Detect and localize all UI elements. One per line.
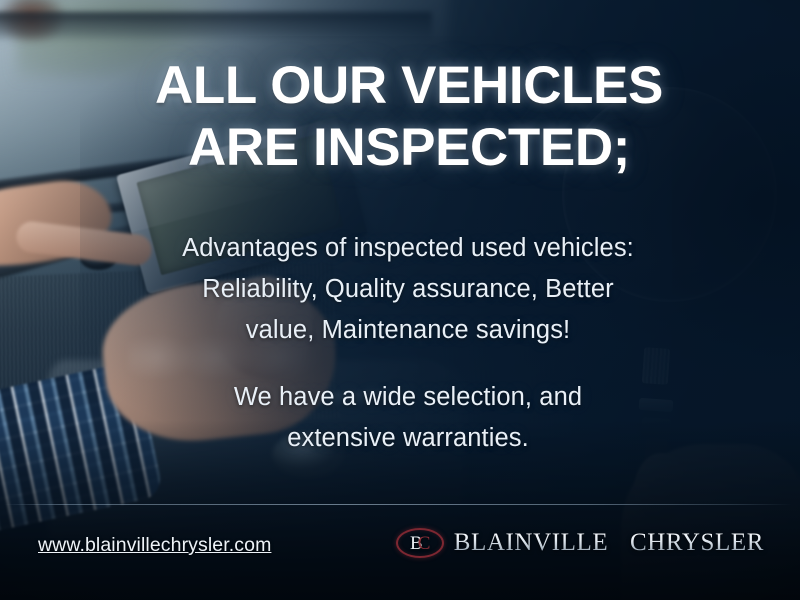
paragraph-advantages-line-2: Reliability, Quality assurance, Better <box>16 269 800 310</box>
headline-line-2: ARE INSPECTED; <box>18 117 800 179</box>
slide-content: ALL OUR VEHICLES ARE INSPECTED; Advantag… <box>0 0 800 600</box>
brand-logo[interactable]: B C BLAINVILLE CHRYSLER <box>396 528 764 558</box>
paragraph-selection-line-2: extensive warranties. <box>16 418 800 459</box>
paragraph-advantages-line-3: value, Maintenance savings! <box>16 310 800 351</box>
monogram-letter-c: C <box>418 534 430 553</box>
paragraph-advantages-line-1: Advantages of inspected used vehicles: <box>16 228 800 269</box>
body-copy: Advantages of inspected used vehicles: R… <box>0 228 800 459</box>
brand-name: BLAINVILLE CHRYSLER <box>454 529 764 557</box>
headline-line-1: ALL OUR VEHICLES <box>18 55 800 117</box>
footer-divider <box>4 504 792 505</box>
website-url[interactable]: www.blainvillechrysler.com <box>38 534 271 557</box>
monogram-letters: B C <box>396 528 444 558</box>
brand-name-chrysler: CHRYSLER <box>630 529 764 556</box>
brand-name-blainville: BLAINVILLE <box>454 529 609 556</box>
bc-monogram-icon: B C <box>396 528 444 558</box>
paragraph-selection-line-1: We have a wide selection, and <box>16 377 800 418</box>
headline: ALL OUR VEHICLES ARE INSPECTED; <box>0 55 800 179</box>
paragraph-advantages: Advantages of inspected used vehicles: R… <box>16 228 800 351</box>
promotional-slide: ALL OUR VEHICLES ARE INSPECTED; Advantag… <box>0 0 800 600</box>
paragraph-selection: We have a wide selection, and extensive … <box>16 377 800 459</box>
